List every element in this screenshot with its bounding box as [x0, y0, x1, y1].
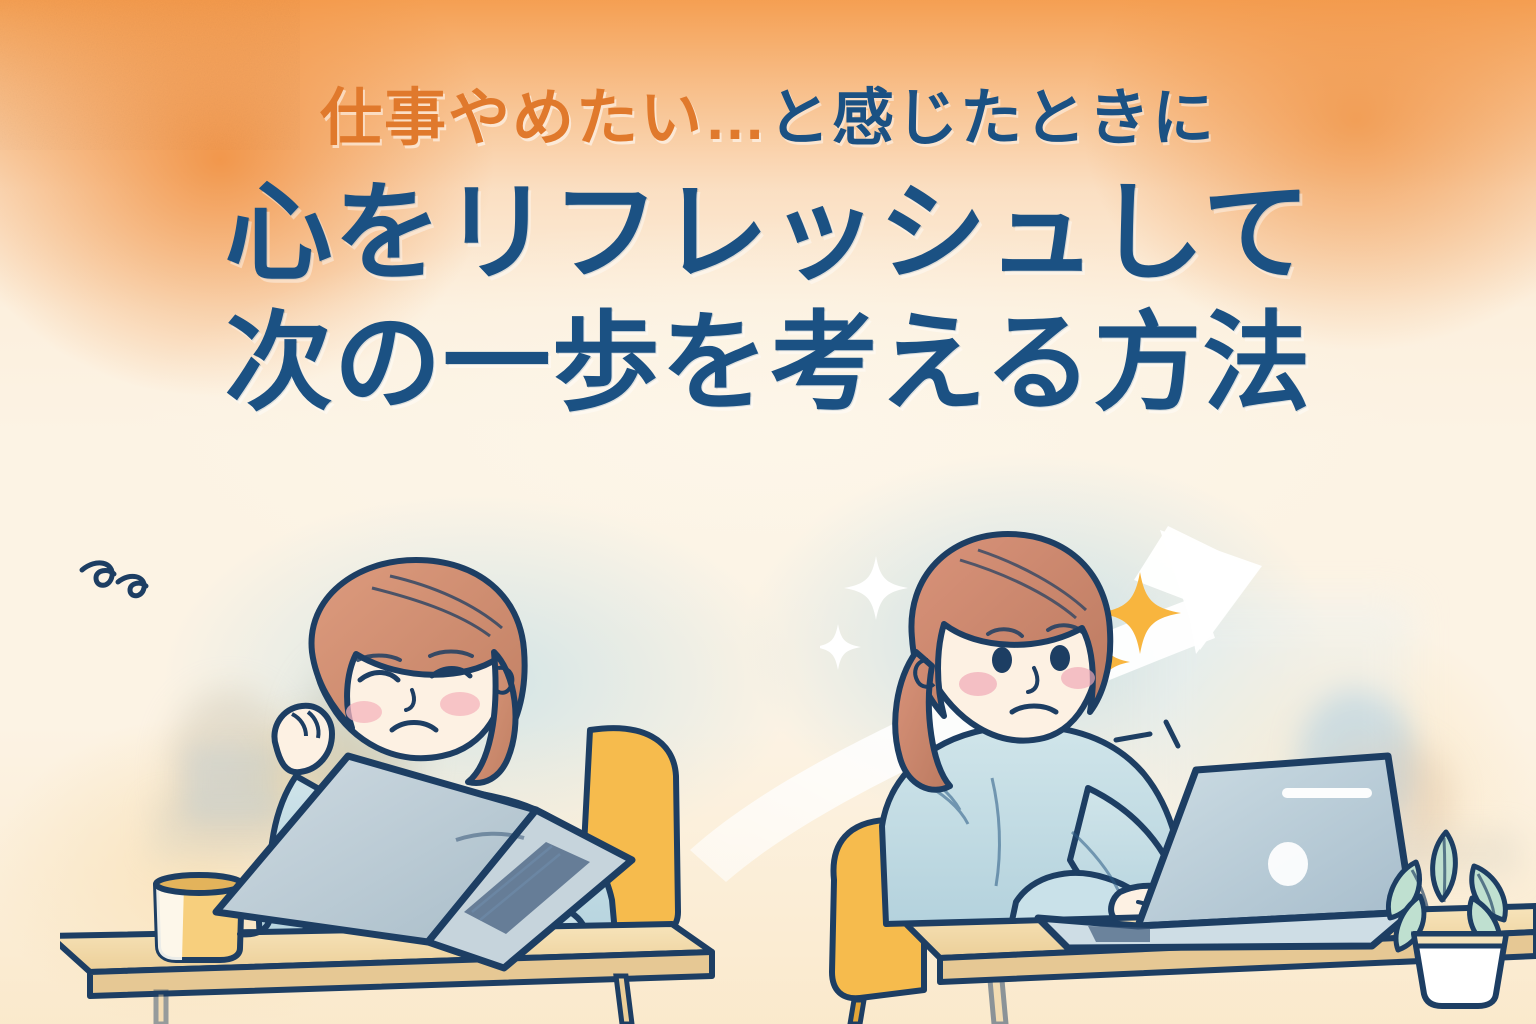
headline-line-1-rest: と感じたときに	[768, 84, 1216, 153]
headline-line-3: 次の一歩を考える方法	[0, 299, 1536, 426]
banner-canvas: 仕事やめたい…と感じたときに 心をリフレッシュして 次の一歩を考える方法	[0, 0, 1536, 1024]
hand-supporting-cheek	[274, 706, 332, 772]
headline-block: 仕事やめたい…と感じたときに 心をリフレッシュして 次の一歩を考える方法	[0, 86, 1536, 426]
headline-line-2: 心をリフレッシュして	[0, 167, 1536, 299]
headline-highlight: 仕事やめたい…	[320, 84, 768, 153]
laptop-logo	[1268, 842, 1308, 886]
blush-right	[1061, 667, 1095, 689]
sparkle	[820, 556, 908, 670]
tired-worker-scene	[60, 540, 720, 1024]
blush-left	[346, 701, 382, 723]
woman-head	[312, 560, 525, 783]
blush-left	[959, 672, 997, 696]
blush-right	[440, 692, 480, 716]
headline-line-1: 仕事やめたい…と感じたときに	[0, 86, 1536, 151]
laptop-screen-highlight	[1282, 788, 1372, 798]
motion-lines	[1116, 722, 1178, 746]
refreshed-worker-scene	[820, 520, 1536, 1024]
stress-swirl-icon	[82, 563, 146, 596]
